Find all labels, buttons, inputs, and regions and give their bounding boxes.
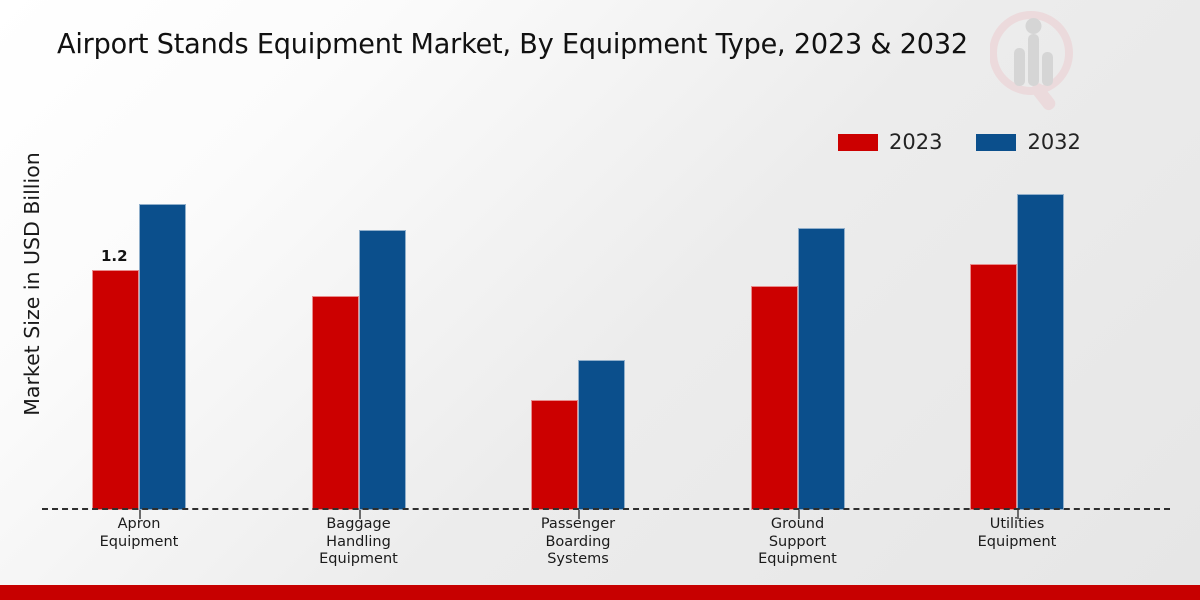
bar-2023-3[interactable] — [751, 286, 798, 510]
legend-swatch-icon-2023 — [838, 134, 878, 151]
chart-legend: 2023 2032 — [838, 132, 1081, 153]
legend-swatch-icon-2032 — [976, 134, 1016, 151]
plot-area: 1.2 — [42, 160, 1170, 510]
bar-group — [312, 160, 406, 510]
y-axis-title: Market Size in USD Billion — [20, 84, 44, 484]
bar-2023-1[interactable] — [312, 296, 359, 510]
x-axis-category-label: Ground Support Equipment — [708, 516, 888, 569]
bar-2032-3[interactable] — [798, 228, 845, 510]
bar-2023-2[interactable] — [531, 400, 578, 510]
legend-item-2032[interactable]: 2032 — [976, 132, 1080, 153]
x-axis-baseline — [42, 508, 1170, 510]
bar-group — [531, 160, 625, 510]
bar-group: 1.2 — [92, 160, 186, 510]
bar-2023-4[interactable] — [970, 264, 1017, 510]
x-axis-category-label: Utilities Equipment — [927, 516, 1107, 551]
x-axis-category-label: Passenger Boarding Systems — [488, 516, 668, 569]
bar-group — [970, 160, 1064, 510]
bar-2032-1[interactable] — [359, 230, 406, 510]
bar-group — [751, 160, 845, 510]
bar-value-label: 1.2 — [101, 247, 128, 265]
legend-label-2032: 2032 — [1027, 132, 1080, 153]
legend-label-2023: 2023 — [889, 132, 942, 153]
chart-container: Airport Stands Equipment Market, By Equi… — [0, 0, 1200, 600]
magnifier-bar-chart-logo-icon — [990, 8, 1082, 112]
legend-item-2023[interactable]: 2023 — [838, 132, 942, 153]
chart-title: Airport Stands Equipment Market, By Equi… — [57, 28, 1062, 60]
bar-2032-2[interactable] — [578, 360, 625, 510]
bar-2032-0[interactable] — [139, 204, 186, 510]
bar-2023-0[interactable] — [92, 270, 139, 510]
x-axis-category-label: Baggage Handling Equipment — [269, 516, 449, 569]
bar-2032-4[interactable] — [1017, 194, 1064, 510]
x-axis-category-label: Apron Equipment — [49, 516, 229, 551]
footer-accent-bar — [0, 585, 1200, 600]
